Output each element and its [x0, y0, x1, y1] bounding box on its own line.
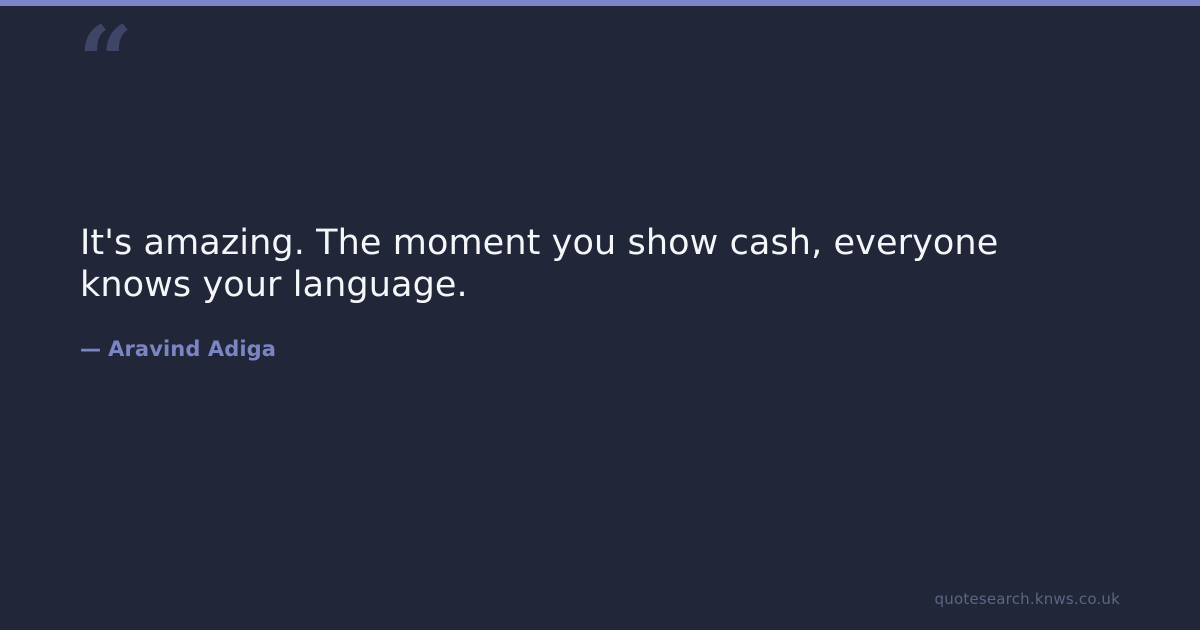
top-accent-bar	[0, 0, 1200, 6]
quote-attribution: —Aravind Adiga	[80, 306, 1090, 362]
quote-content: It's amazing. The moment you show cash, …	[80, 222, 1090, 362]
quote-text: It's amazing. The moment you show cash, …	[80, 222, 1090, 306]
double-quote-icon: “	[78, 14, 198, 104]
author-name: Aravind Adiga	[108, 337, 276, 361]
site-watermark: quotesearch.knws.co.uk	[935, 590, 1120, 608]
attribution-dash: —	[80, 336, 108, 362]
quote-card: “ It's amazing. The moment you show cash…	[0, 0, 1200, 630]
